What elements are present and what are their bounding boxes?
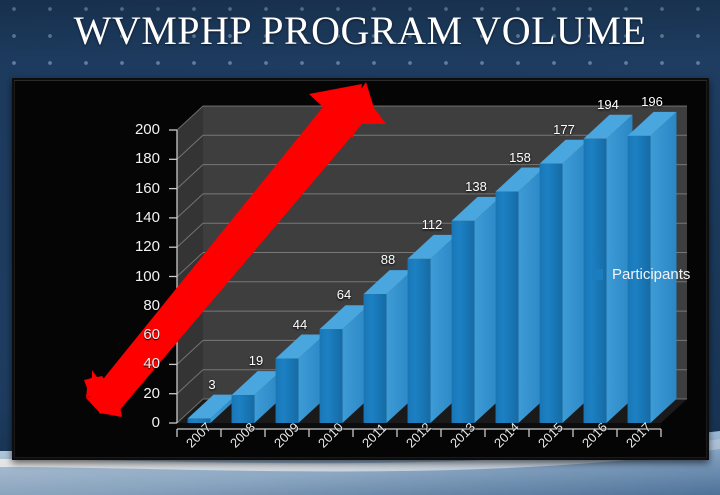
bar-front-face[interactable] [320, 329, 343, 423]
y-axis-tick-label: 40 [114, 355, 160, 372]
bar-data-label: 88 [366, 252, 410, 267]
bar-data-label: 177 [542, 122, 586, 137]
bar-data-label: 138 [454, 179, 498, 194]
bar-data-label: 112 [410, 217, 454, 232]
slide-background: WVMPHP PROGRAM VOLUME [0, 0, 720, 495]
y-axis-tick-label: 180 [114, 150, 160, 167]
y-axis-tick-label: 100 [114, 268, 160, 285]
y-axis-tick-label: 60 [114, 326, 160, 343]
bar-data-label: 196 [630, 94, 674, 109]
legend-label-participants: Participants [612, 266, 690, 283]
y-axis-tick-label: 160 [114, 180, 160, 197]
y-axis [169, 130, 177, 423]
y-axis-tick-label: 0 [114, 414, 160, 431]
bar-front-face[interactable] [496, 192, 519, 423]
bar-data-label: 64 [322, 287, 366, 302]
bar-data-label: 158 [498, 150, 542, 165]
bar-front-face[interactable] [276, 359, 299, 423]
page-title: WVMPHP PROGRAM VOLUME [0, 4, 720, 56]
y-axis-tick-label: 20 [114, 385, 160, 402]
y-axis-tick-label: 140 [114, 209, 160, 226]
y-axis-tick-label: 80 [114, 297, 160, 314]
bar-data-label: 194 [586, 97, 630, 112]
chart-container: 200180160140120100806040200 200720082009… [12, 78, 709, 460]
y-axis-tick-label: 200 [114, 121, 160, 138]
bar-data-label: 44 [278, 317, 322, 332]
bar-front-face[interactable] [452, 221, 475, 423]
legend-swatch-participants [592, 269, 603, 280]
bar-front-face[interactable] [364, 294, 387, 423]
bar-data-label: 3 [190, 377, 234, 392]
y-axis-tick-label: 120 [114, 238, 160, 255]
bar-front-face[interactable] [232, 395, 255, 423]
bar-front-face[interactable] [540, 164, 563, 423]
chart-legend[interactable]: Participants [592, 266, 690, 283]
bar-front-face[interactable] [408, 259, 431, 423]
bar-data-label: 19 [234, 353, 278, 368]
